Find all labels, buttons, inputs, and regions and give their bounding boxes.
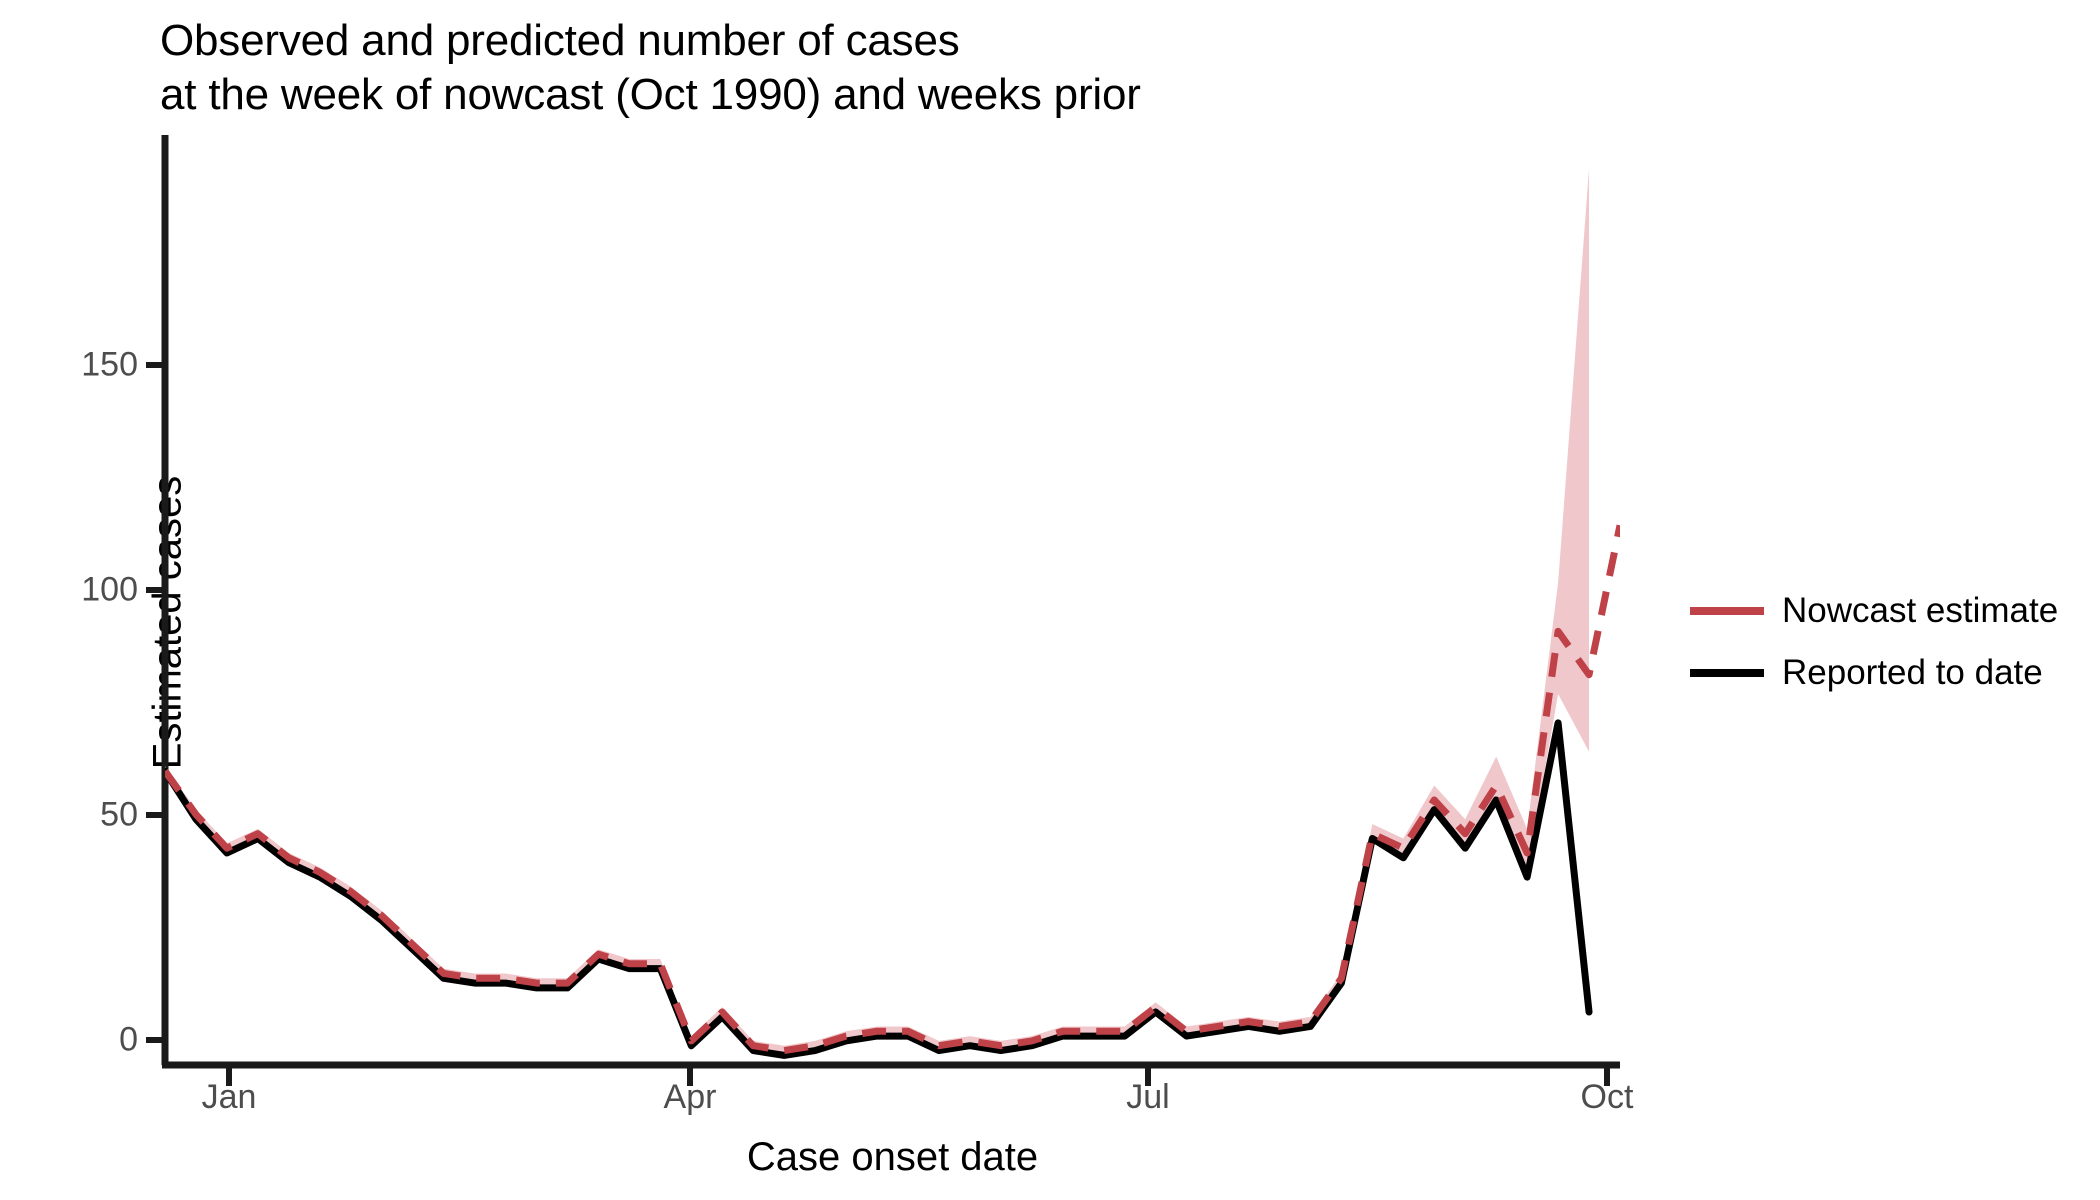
- legend-item-reported[interactable]: Reported to date: [1690, 642, 2070, 704]
- title-line-1: Observed and predicted number of cases: [160, 14, 1560, 68]
- x-tick-oct: Oct: [1581, 1078, 1634, 1117]
- chart-figure: Observed and predicted number of cases a…: [0, 0, 2100, 1200]
- x-axis-title: Case onset date: [165, 1135, 1620, 1180]
- series-canvas: [165, 135, 1620, 1065]
- legend-label-reported: Reported to date: [1782, 653, 2043, 693]
- legend-item-nowcast[interactable]: Nowcast estimate: [1690, 580, 2070, 642]
- reported-line: [165, 723, 1589, 1055]
- y-tick-0: 0: [18, 1021, 138, 1060]
- legend-swatch-reported-icon: [1690, 658, 1764, 688]
- chart-legend: Nowcast estimate Reported to date: [1690, 580, 2070, 704]
- y-tick-150: 150: [18, 346, 138, 385]
- page-title: Observed and predicted number of cases a…: [160, 14, 1560, 122]
- legend-swatch-nowcast-icon: [1690, 596, 1764, 626]
- legend-label-nowcast: Nowcast estimate: [1782, 591, 2058, 631]
- x-tick-jan: Jan: [202, 1078, 257, 1117]
- y-tick-labels: 0 50 100 150: [0, 0, 138, 1200]
- x-tick-apr: Apr: [664, 1078, 717, 1117]
- y-tick-50: 50: [18, 796, 138, 835]
- y-tick-100: 100: [18, 571, 138, 610]
- x-tick-jul: Jul: [1126, 1078, 1169, 1117]
- title-line-2: at the week of nowcast (Oct 1990) and we…: [160, 68, 1560, 122]
- plot-panel: [165, 135, 1620, 1065]
- nowcast-line: [165, 525, 1620, 1050]
